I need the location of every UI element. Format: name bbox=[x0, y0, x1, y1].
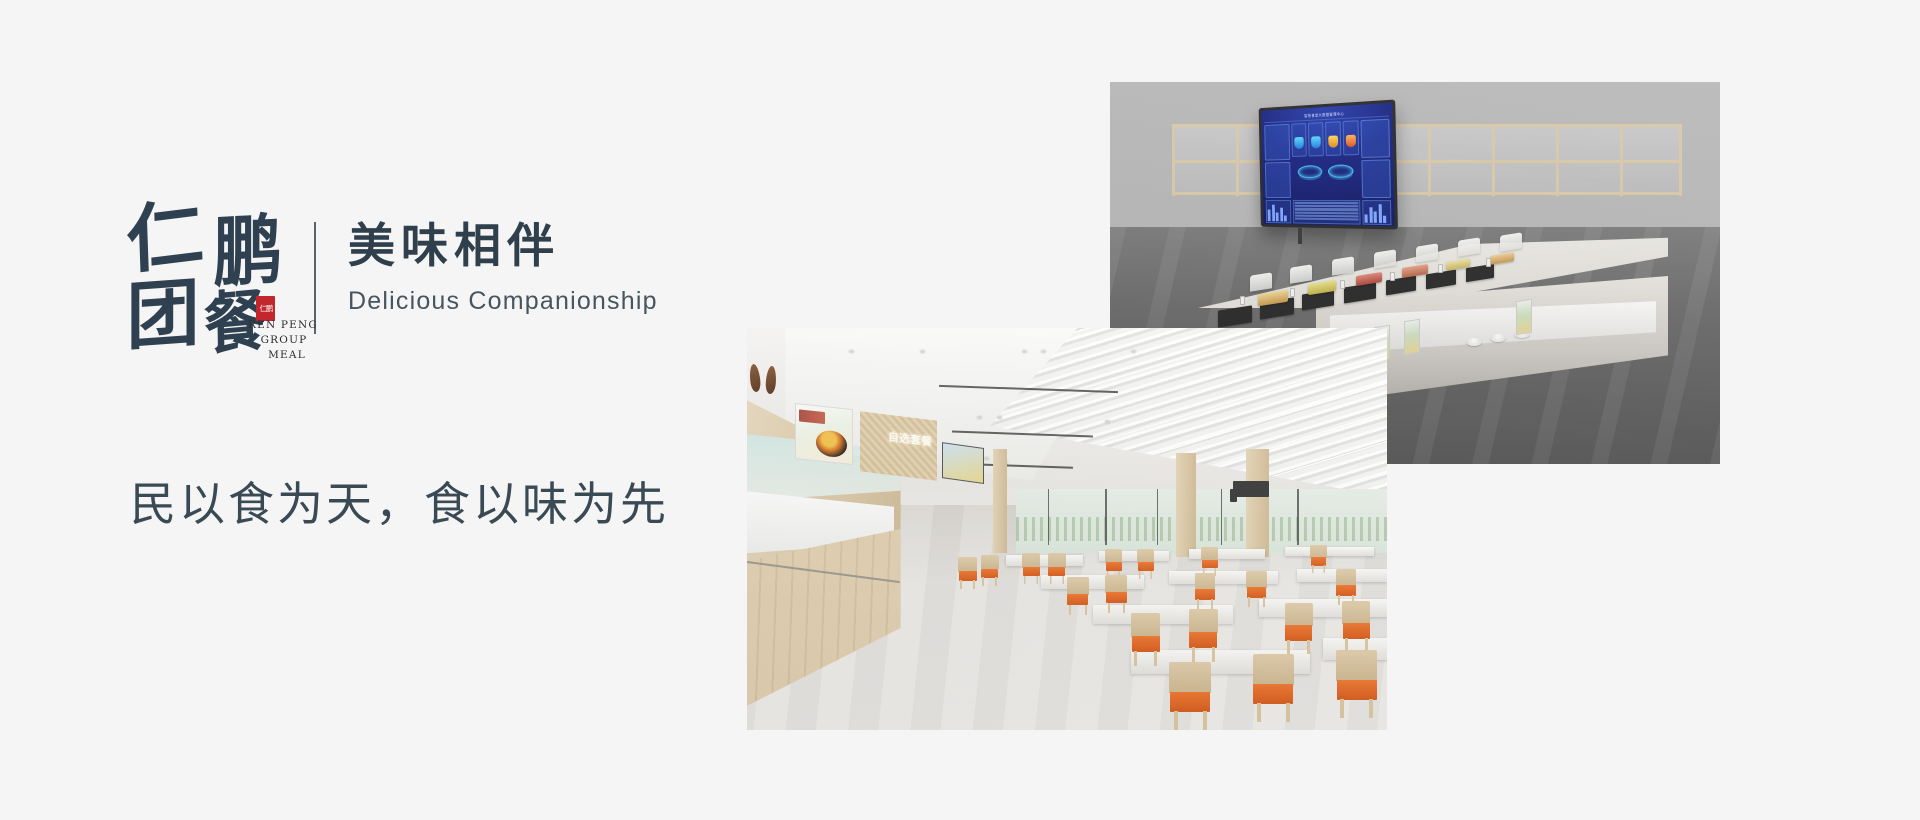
dashboard-kpi-4 bbox=[1343, 120, 1360, 155]
dashboard-center-column bbox=[1291, 120, 1360, 198]
dining-chair bbox=[1195, 573, 1215, 609]
dining-chair bbox=[1336, 569, 1356, 605]
sneeze-guard bbox=[1250, 272, 1272, 291]
price-label bbox=[1240, 296, 1245, 305]
menu-poster bbox=[795, 403, 853, 465]
dashboard-kpi-1 bbox=[1291, 123, 1306, 157]
dashboard-gauge-1 bbox=[1298, 165, 1323, 178]
interior-column bbox=[1176, 453, 1196, 558]
price-label bbox=[1340, 280, 1345, 289]
poster-title-bar bbox=[799, 410, 825, 425]
induction-tray bbox=[1218, 305, 1252, 327]
dining-chair bbox=[1246, 571, 1266, 607]
dining-chair bbox=[1285, 603, 1313, 653]
company-logo: 仁 鹏 团 餐 仁鹏 REN PENG GROUP MEAL bbox=[128, 196, 310, 364]
dashboard-gauge-2 bbox=[1328, 164, 1354, 178]
price-label bbox=[1486, 258, 1491, 267]
brand-headline-group: 美味相伴 Delicious Companionship bbox=[348, 216, 658, 320]
counter-graphic-panel bbox=[1516, 299, 1532, 336]
canteen-interior-image: 自选套餐 bbox=[747, 328, 1387, 730]
logo-seal-text: 仁鹏 bbox=[259, 305, 272, 312]
window-mullion bbox=[1105, 489, 1107, 545]
wall-mounted-tv bbox=[1230, 489, 1238, 503]
dining-chair bbox=[1336, 650, 1378, 718]
dashboard-bottom-row bbox=[1266, 198, 1392, 225]
dining-chair bbox=[1137, 549, 1154, 579]
dashboard-kpi-3 bbox=[1325, 121, 1341, 156]
dashboard-user-card bbox=[1264, 124, 1290, 161]
dining-table bbox=[1189, 549, 1266, 559]
wall-mounted-tv bbox=[1233, 481, 1268, 497]
logo-char-peng: 鹏 bbox=[213, 212, 282, 292]
dining-chair bbox=[1131, 613, 1160, 665]
price-label bbox=[1390, 272, 1395, 281]
brand-slogan: 民以食为天，食以味为先 bbox=[130, 468, 669, 534]
dining-chair bbox=[1048, 553, 1066, 584]
dining-chair bbox=[1105, 575, 1127, 613]
brand-block: 仁 鹏 团 餐 仁鹏 REN PENG GROUP MEAL 美味相伴 Deli… bbox=[128, 196, 728, 376]
stacked-bowls bbox=[1490, 334, 1506, 342]
window-mullion bbox=[1157, 489, 1159, 545]
dining-chair bbox=[1310, 545, 1327, 573]
counter-graphic-panel bbox=[1404, 319, 1420, 356]
logo-char-tuan: 团 bbox=[126, 276, 199, 355]
interior-column bbox=[993, 449, 1007, 554]
price-label bbox=[1438, 264, 1443, 273]
stacked-bowls bbox=[1466, 338, 1482, 346]
dashboard-left-column bbox=[1264, 124, 1291, 198]
dining-chair bbox=[1253, 654, 1295, 722]
dashboard-body bbox=[1264, 117, 1391, 198]
dashboard-kpi-2 bbox=[1308, 122, 1324, 156]
dining-chair bbox=[1342, 601, 1370, 651]
dashboard-radar-card bbox=[1265, 162, 1291, 198]
dining-chair bbox=[981, 555, 999, 586]
logo-english-line1: REN PENG bbox=[248, 318, 318, 333]
dashboard-stat-card-2 bbox=[1361, 159, 1391, 198]
dining-chair bbox=[1022, 553, 1040, 584]
brand-divider bbox=[314, 222, 316, 334]
dining-table bbox=[1006, 555, 1083, 565]
dining-chair bbox=[958, 557, 977, 589]
logo-english-line2: GROUP bbox=[248, 333, 318, 348]
logo-char-ren: 仁 bbox=[125, 195, 205, 278]
poster-food-bowl bbox=[816, 429, 847, 458]
dashboard-stat-card-1 bbox=[1361, 119, 1391, 158]
brand-headline-en: Delicious Companionship bbox=[348, 282, 658, 320]
dining-chair bbox=[1201, 547, 1218, 576]
dashboard-bar-chart-right bbox=[1362, 200, 1391, 225]
dashboard-kpi-row bbox=[1291, 120, 1359, 157]
dining-chair bbox=[1189, 609, 1218, 661]
dining-chair bbox=[1067, 577, 1089, 615]
logo-english-name: REN PENG GROUP MEAL bbox=[248, 318, 318, 363]
page-canvas: 仁 鹏 团 餐 仁鹏 REN PENG GROUP MEAL 美味相伴 Deli… bbox=[0, 0, 1920, 820]
window-mullion bbox=[1048, 489, 1050, 545]
sneeze-guard bbox=[1290, 264, 1312, 283]
dashboard-bar-chart-left bbox=[1266, 200, 1292, 223]
dashboard-monitor[interactable]: 智慧食堂大数据管理中心 bbox=[1259, 99, 1398, 229]
dashboard-screen: 智慧食堂大数据管理中心 bbox=[1261, 103, 1394, 226]
ceiling-downlight bbox=[984, 457, 989, 460]
brand-headline-cn: 美味相伴 bbox=[348, 216, 658, 276]
interior-column bbox=[1246, 449, 1269, 558]
window-mullion bbox=[1221, 489, 1223, 545]
window-mullion bbox=[1297, 489, 1299, 545]
render-ceiling-truss bbox=[1172, 120, 1682, 208]
logo-english-line3: MEAL bbox=[248, 348, 318, 363]
interior-greenery-band bbox=[1016, 517, 1387, 541]
dashboard-right-column bbox=[1361, 119, 1391, 198]
dashboard-gauge-row bbox=[1292, 157, 1360, 184]
dining-table bbox=[1285, 547, 1375, 556]
dashboard-data-table bbox=[1293, 200, 1361, 225]
dining-chair bbox=[1169, 662, 1211, 730]
price-label bbox=[1290, 288, 1295, 297]
ceiling-downlight bbox=[920, 350, 925, 353]
menu-display-screen[interactable] bbox=[942, 442, 984, 484]
